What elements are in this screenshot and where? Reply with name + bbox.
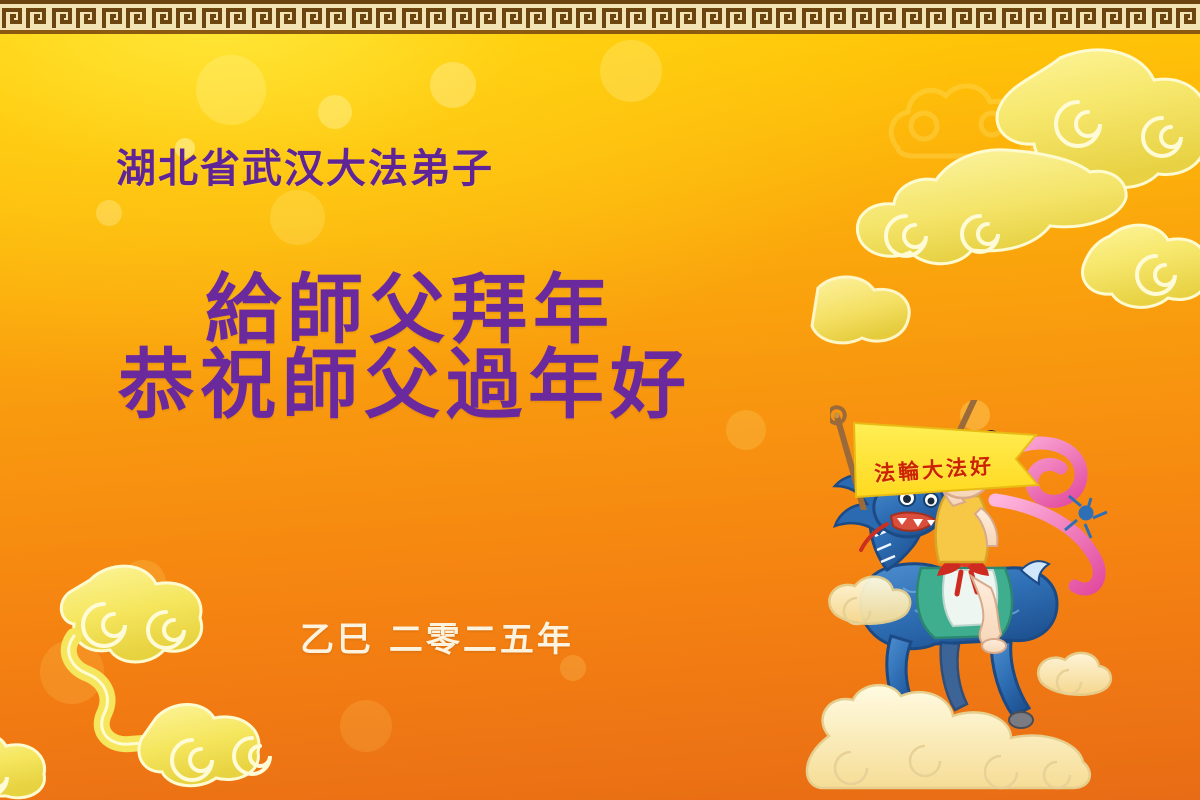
greeting-line-2: 恭祝師父過年好 [118, 345, 692, 425]
new-year-greeting-card: 湖北省武汉大法弟子 給師父拜年 恭祝師父過年好 乙巳 二零二五年 法輪大法好 [0, 0, 1200, 800]
date-line: 乙巳 二零二五年 [300, 612, 574, 661]
greek-key-border [0, 0, 1200, 34]
greeting-line-1: 給師父拜年 [205, 270, 615, 350]
sender-line: 湖北省武汉大法弟子 [116, 136, 494, 194]
